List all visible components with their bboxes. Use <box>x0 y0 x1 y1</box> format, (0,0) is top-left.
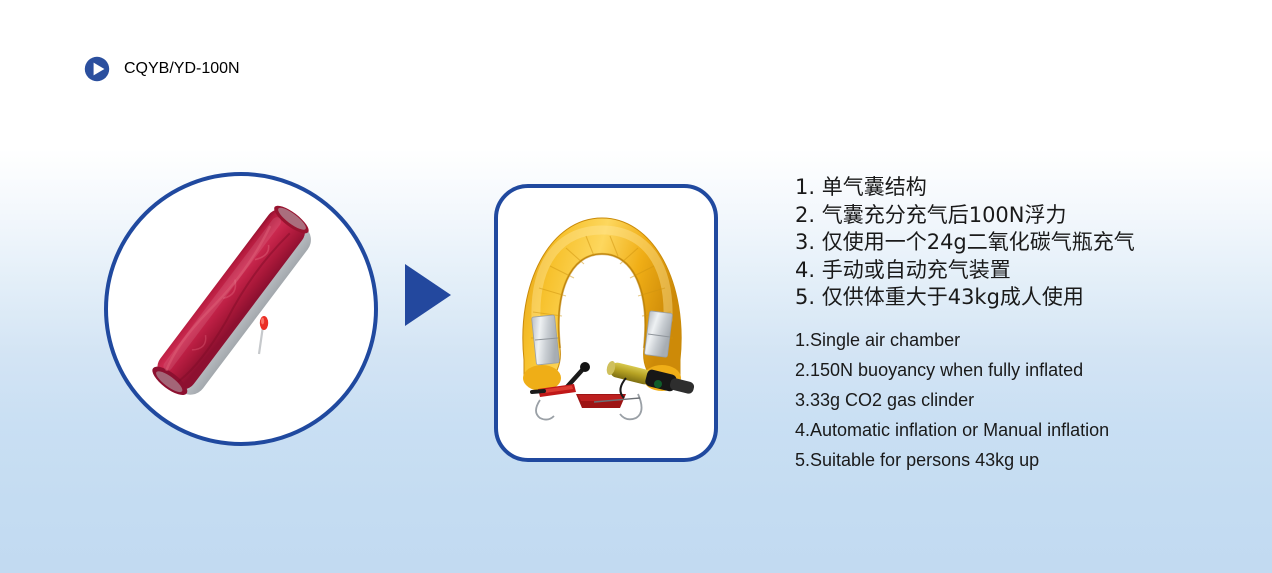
right-triangle-arrow-icon <box>402 262 454 328</box>
reflective-patch-right <box>644 311 672 357</box>
list-item: 5. 仅供体重大于43kg成人使用 <box>795 284 1215 312</box>
list-item: 1. 单气囊结构 <box>795 174 1215 202</box>
list-item: 5.Suitable for persons 43kg up <box>795 445 1215 475</box>
product-spec-slide: CQYB/YD-100N <box>0 0 1272 573</box>
list-item: 1.Single air chamber <box>795 325 1215 355</box>
list-item: 4.Automatic inflation or Manual inflatio… <box>795 415 1215 445</box>
page-title-text: CQYB/YD-100N <box>124 60 240 78</box>
list-item: 2.150N buoyancy when fully inflated <box>795 355 1215 385</box>
figure-folded-pouch <box>104 172 378 446</box>
page-title: CQYB/YD-100N <box>84 56 240 82</box>
figure-inflated-vest <box>494 184 718 462</box>
spec-list-english: 1.Single air chamber 2.150N buoyancy whe… <box>795 325 1215 475</box>
vest-bladder <box>523 218 681 391</box>
spec-list-chinese: 1. 单气囊结构 2. 气囊充分充气后100N浮力 3. 仅使用一个24g二氧化… <box>795 174 1215 312</box>
inflated-vest-illustration <box>498 188 706 450</box>
list-item: 3.33g CO2 gas clinder <box>795 385 1215 415</box>
list-item: 3. 仅使用一个24g二氧化碳气瓶充气 <box>795 229 1215 257</box>
play-circle-icon <box>84 56 110 82</box>
pull-tab <box>259 316 268 354</box>
folded-pouch-illustration <box>108 176 366 434</box>
list-item: 2. 气囊充分充气后100N浮力 <box>795 202 1215 230</box>
reflective-patch-left <box>532 315 560 365</box>
list-item: 4. 手动或自动充气装置 <box>795 257 1215 285</box>
specifications: 1. 单气囊结构 2. 气囊充分充气后100N浮力 3. 仅使用一个24g二氧化… <box>795 174 1215 475</box>
